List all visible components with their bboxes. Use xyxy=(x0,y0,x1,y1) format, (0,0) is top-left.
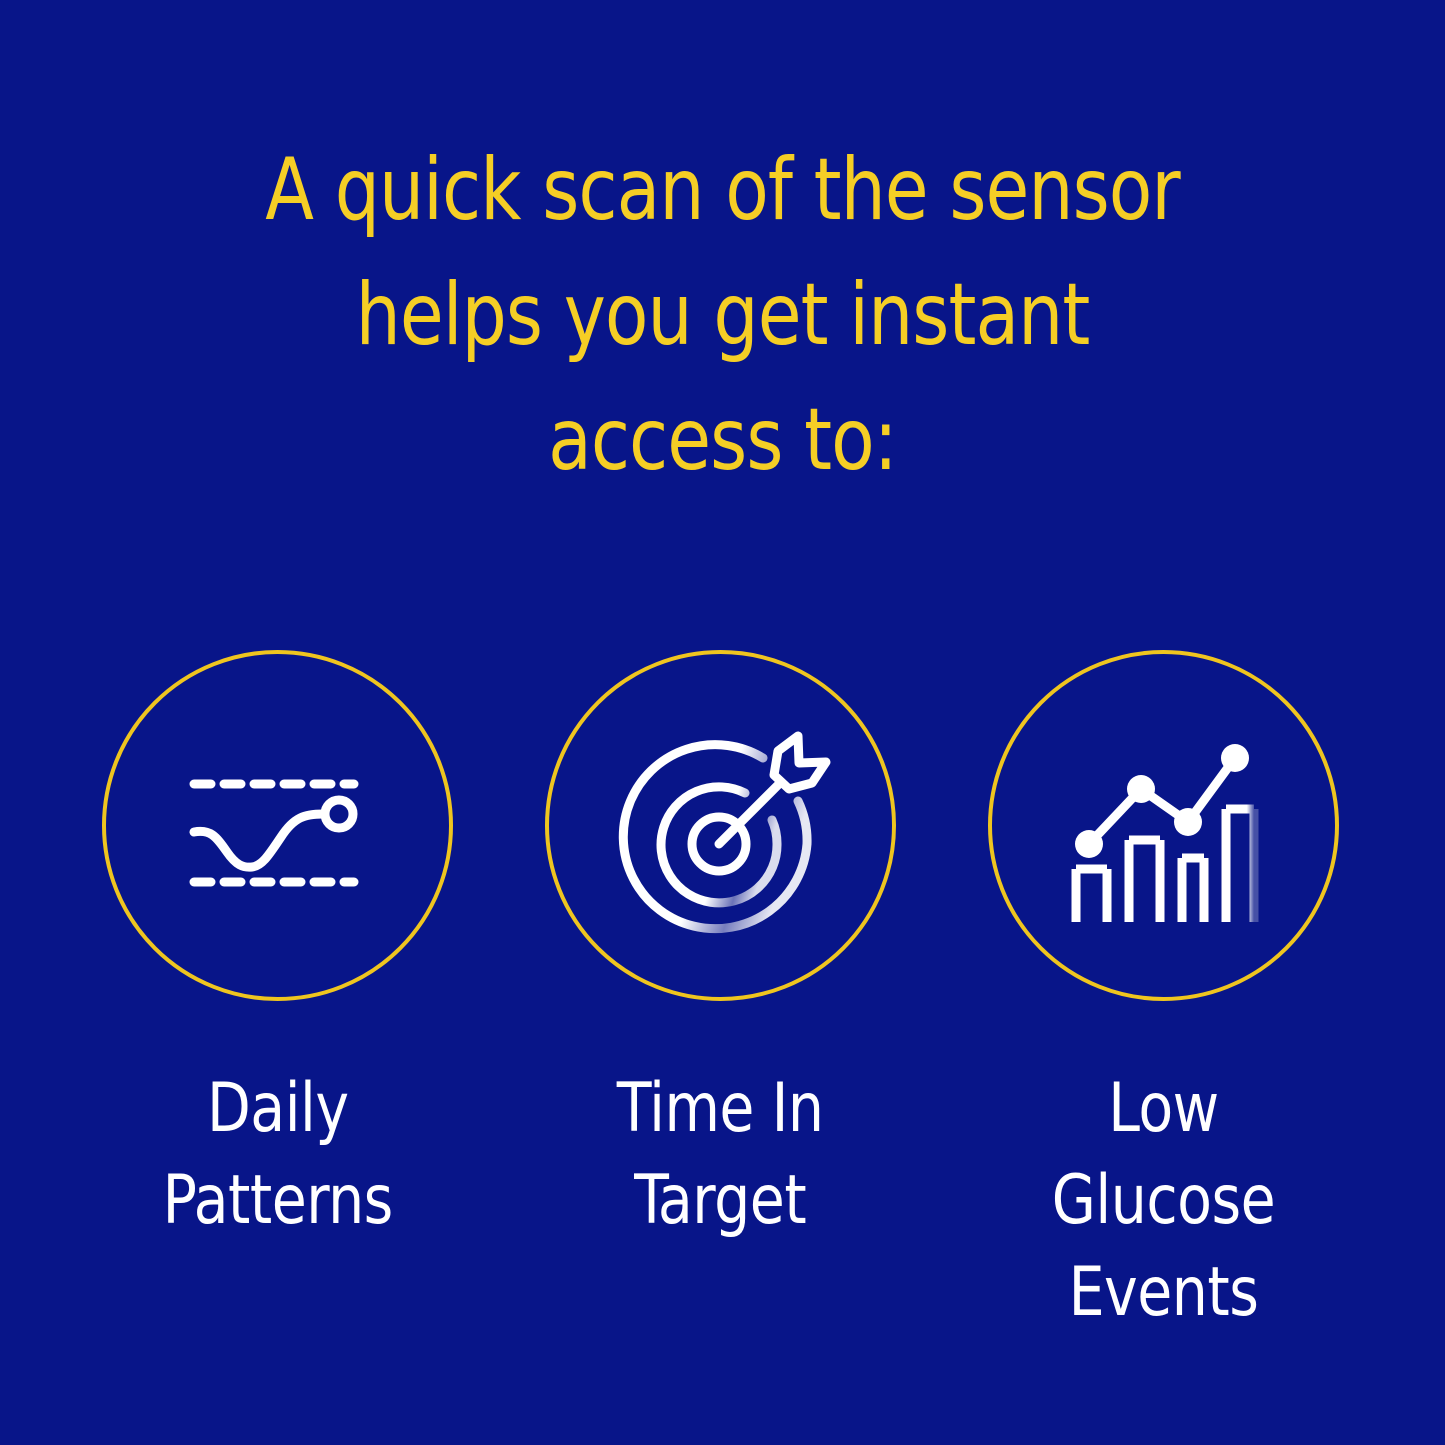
icon-ring xyxy=(545,650,896,1001)
feature-label: Daily Patterns xyxy=(162,1063,392,1247)
promo-card: A quick scan of the sensor helps you get… xyxy=(0,0,1445,1445)
page-title: A quick scan of the sensor helps you get… xyxy=(58,128,1387,503)
time-in-target-bullseye-icon xyxy=(549,654,900,1005)
feature-item-daily-patterns[interactable]: Daily Patterns xyxy=(102,650,453,1339)
feature-label: Low Glucose Events xyxy=(1000,1063,1326,1339)
daily-patterns-line-graph-icon xyxy=(106,654,457,1005)
feature-list: Daily Patterns xyxy=(0,650,1445,1339)
icon-ring xyxy=(988,650,1339,1001)
feature-item-low-glucose-events[interactable]: Low Glucose Events xyxy=(988,650,1339,1339)
feature-item-time-in-target[interactable]: Time In Target xyxy=(545,650,896,1339)
icon-ring xyxy=(102,650,453,1001)
feature-label: Time In Target xyxy=(617,1063,824,1247)
low-glucose-events-bar-line-chart-icon xyxy=(992,654,1343,1005)
